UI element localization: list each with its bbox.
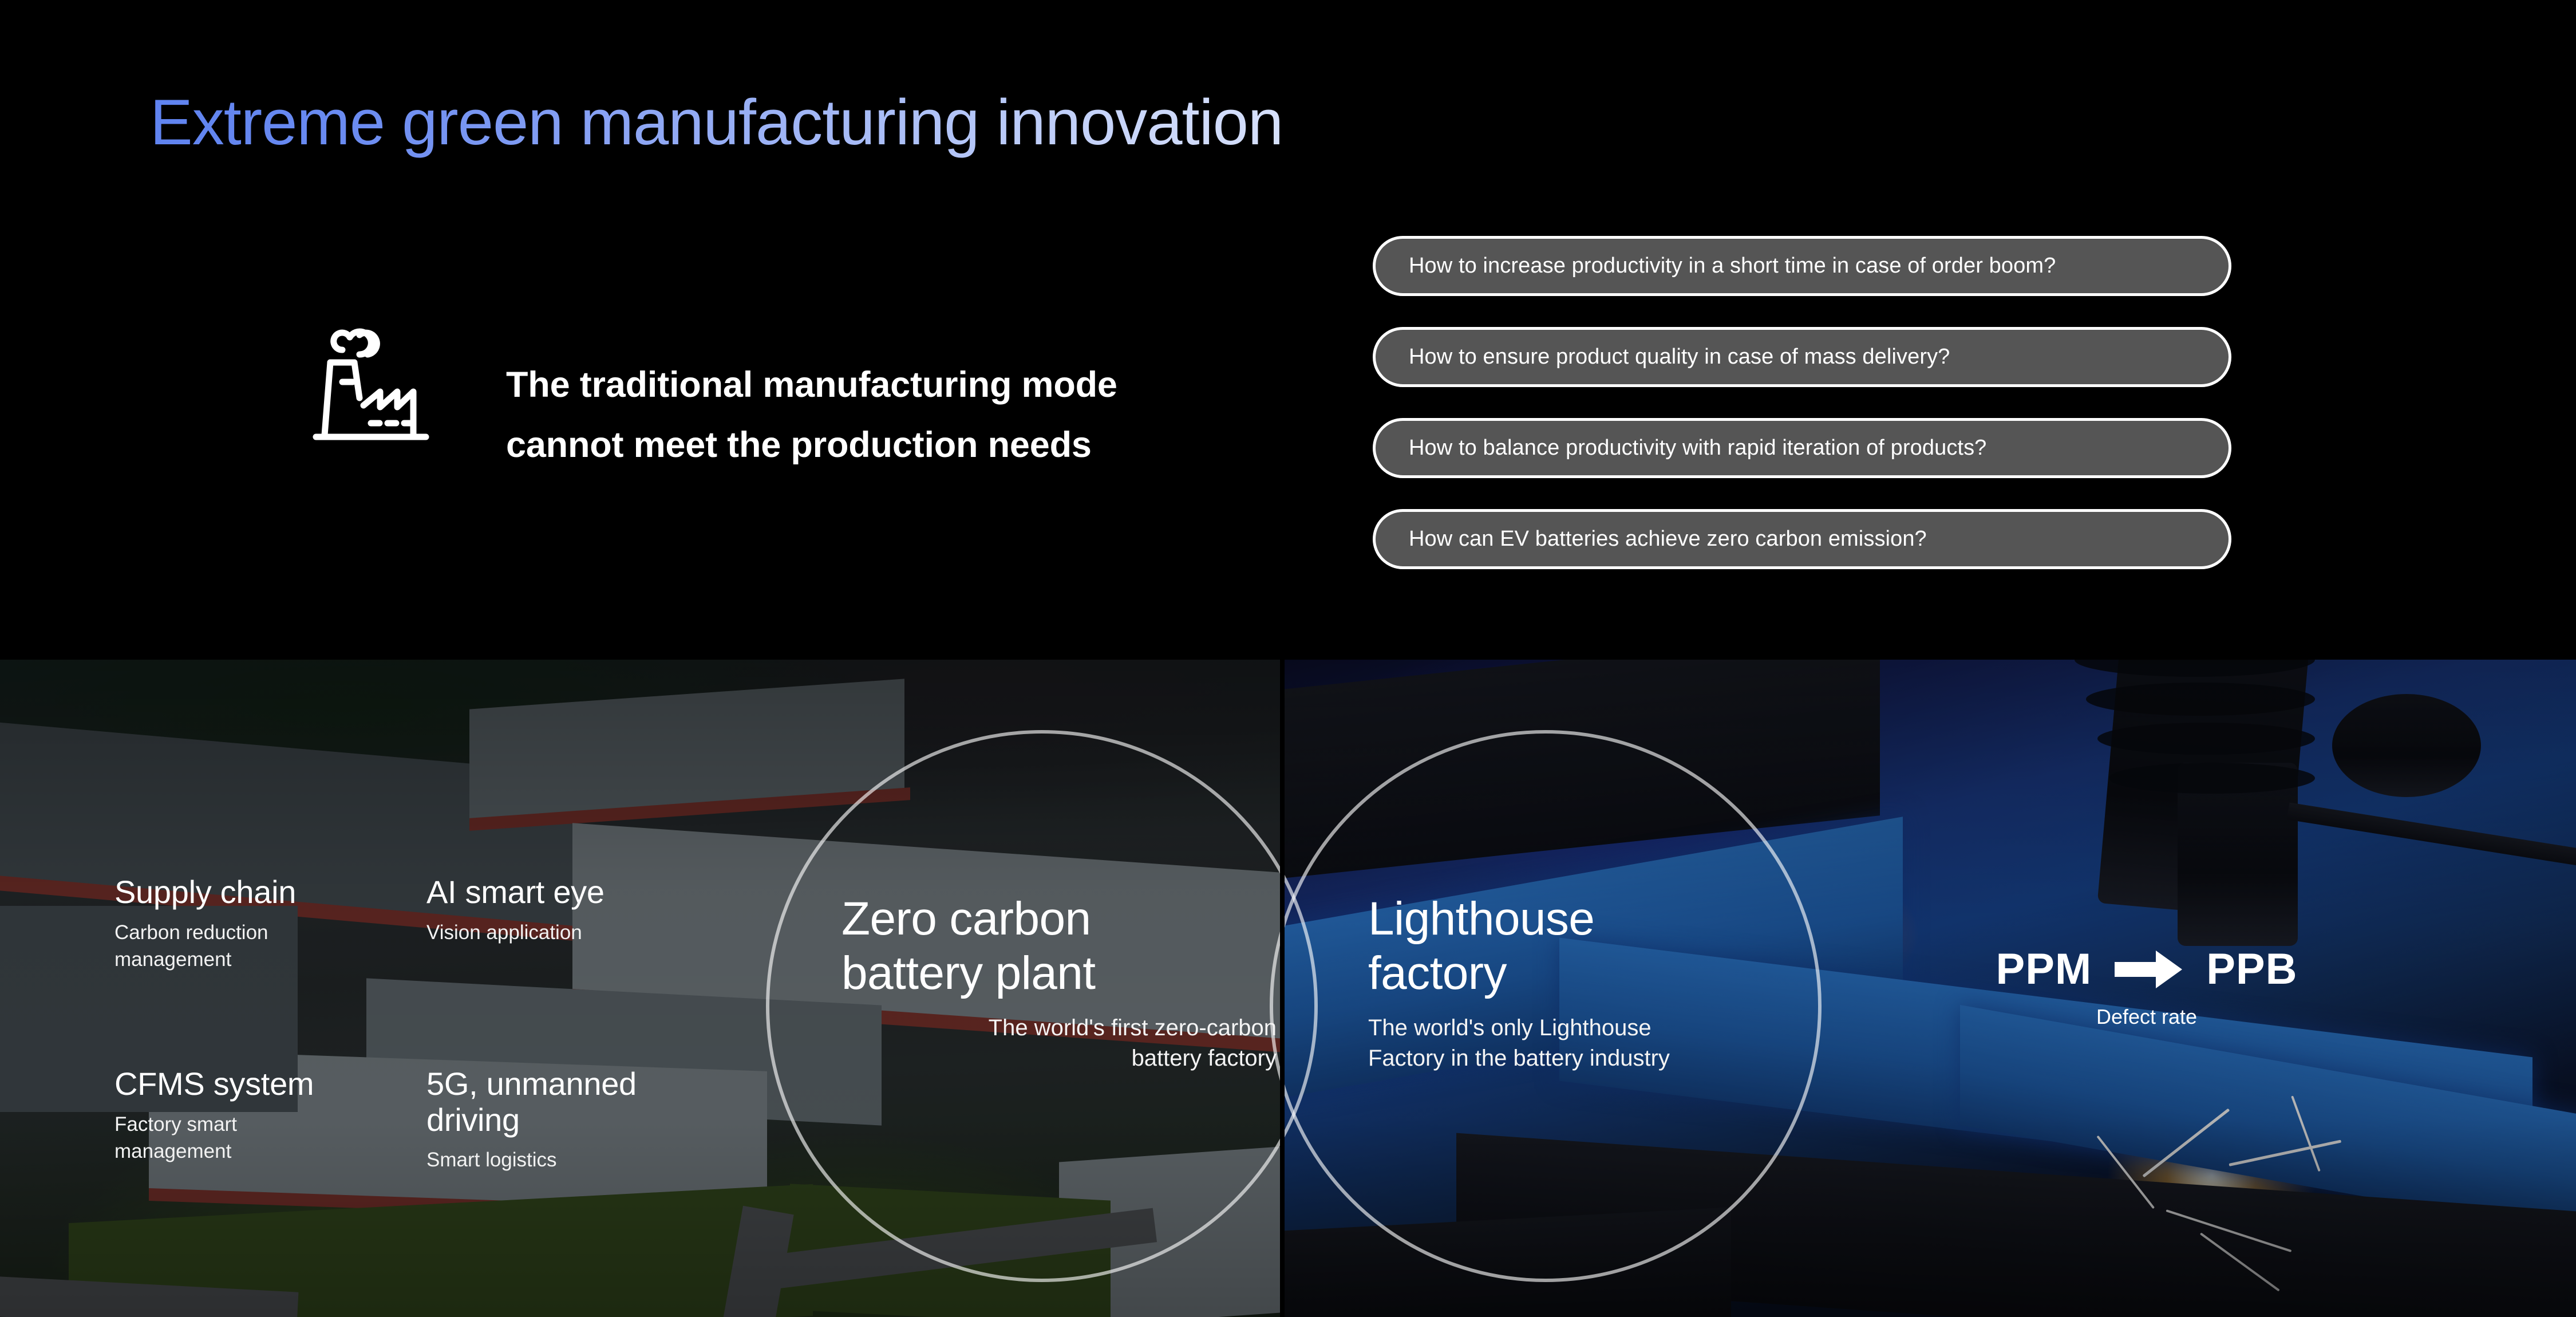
highlight-lighthouse-factory-subtitle: The world's only Lighthouse Factory in t… (1368, 1013, 1803, 1074)
question-pill-4[interactable]: How can EV batteries achieve zero carbon… (1373, 509, 2231, 569)
defect-rate-row: PPM PPB (1996, 948, 2298, 991)
question-pill-2[interactable]: How to ensure product quality in case of… (1373, 327, 2231, 387)
factory-icon (307, 312, 450, 455)
feature-supply-chain-title: Supply chain (114, 874, 389, 910)
feature-cfms-system-subtitle: Factory smart management (114, 1111, 389, 1165)
statement-line-1: The traditional manufacturing mode (506, 355, 1319, 415)
feature-5g-unmanned-driving-subtitle: Smart logistics (426, 1147, 724, 1174)
defect-rate-metric: PPM PPB Defect rate (1935, 948, 2358, 1029)
question-pill-3-label: How to balance productivity with rapid i… (1409, 436, 1986, 460)
highlight-lighthouse-factory: Lighthouse factory The world's only Ligh… (1368, 892, 1803, 1074)
question-pill-1[interactable]: How to increase productivity in a short … (1373, 236, 2231, 296)
highlight-zero-carbon-plant: Zero carbon battery plant The world's fi… (841, 892, 1277, 1074)
feature-ai-smart-eye: AI smart eye Vision application (426, 874, 724, 947)
question-pill-stack: How to increase productivity in a short … (1373, 236, 2231, 569)
question-pill-1-label: How to increase productivity in a short … (1409, 254, 2056, 278)
highlight-zero-carbon-plant-subtitle: The world's first zero-carbon battery fa… (841, 1013, 1277, 1074)
metric-from-value: PPM (1996, 948, 2092, 991)
traditional-mode-statement: The traditional manufacturing mode canno… (506, 355, 1319, 475)
feature-supply-chain-subtitle: Carbon reduction management (114, 920, 389, 973)
feature-ai-smart-eye-title: AI smart eye (426, 874, 724, 910)
question-pill-3[interactable]: How to balance productivity with rapid i… (1373, 418, 2231, 478)
metric-label: Defect rate (2096, 1005, 2197, 1029)
feature-ai-smart-eye-subtitle: Vision application (426, 920, 724, 947)
metric-to-value: PPB (2206, 948, 2297, 991)
arrow-right-icon (2115, 948, 2183, 991)
statement-line-2: cannot meet the production needs (506, 415, 1319, 475)
page-title: Extreme green manufacturing innovation (150, 85, 1283, 160)
feature-5g-unmanned-driving-title: 5G, unmanned driving (426, 1066, 724, 1138)
slide-root: Extreme green manufacturing innovation (0, 0, 2576, 1317)
feature-5g-unmanned-driving: 5G, unmanned driving Smart logistics (426, 1066, 724, 1174)
feature-cfms-system-title: CFMS system (114, 1066, 389, 1102)
question-pill-2-label: How to ensure product quality in case of… (1409, 345, 1950, 369)
feature-supply-chain: Supply chain Carbon reduction management (114, 874, 389, 973)
question-pill-4-label: How can EV batteries achieve zero carbon… (1409, 527, 1927, 551)
feature-cfms-system: CFMS system Factory smart management (114, 1066, 389, 1165)
highlight-zero-carbon-plant-title: Zero carbon battery plant (841, 892, 1277, 1000)
panel-divider (1280, 660, 1285, 1317)
highlight-lighthouse-factory-title: Lighthouse factory (1368, 892, 1803, 1000)
top-black-section: Extreme green manufacturing innovation (0, 0, 2576, 660)
